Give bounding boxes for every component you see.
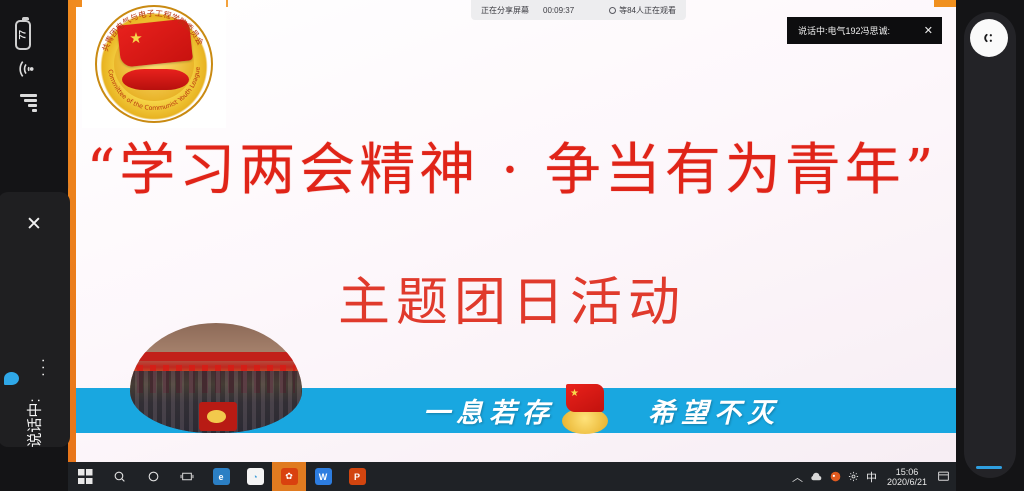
chat-input-field[interactable]: 输入文字(限40字)... xyxy=(964,12,1016,478)
task-view-icon[interactable] xyxy=(170,462,204,491)
shared-screen[interactable]: ★ 共青团电气与电子工程学院委员会 Committee of the xyxy=(68,0,956,491)
signal-bars-icon xyxy=(13,88,37,112)
windows-taskbar[interactable]: e ◔ ✿ W P ︿ xyxy=(68,462,956,491)
speaking-bubble-icon xyxy=(4,372,19,385)
svg-text:共青团电气与电子工程学院委员会: 共青团电气与电子工程学院委员会 xyxy=(101,9,206,53)
speaking-indicator-panel[interactable]: ✕ ··· 说话中: xyxy=(0,192,70,447)
presentation-slide: ★ 共青团电气与电子工程学院委员会 Committee of the xyxy=(68,0,956,462)
battery-icon: 77 xyxy=(15,20,31,50)
taskbar-app-edge[interactable]: e xyxy=(204,462,238,491)
league-emblem-small-icon: ★ xyxy=(558,384,612,434)
wifi-icon xyxy=(14,56,36,82)
phone-clock-text: 15:06 xyxy=(0,432,2,473)
search-icon[interactable] xyxy=(102,462,136,491)
league-logo-container: ★ 共青团电气与电子工程学院委员会 Committee of the xyxy=(82,0,226,128)
cortana-circle-icon[interactable] xyxy=(136,462,170,491)
app-root: 77 ✕ ··· 说话中: 15:06 xyxy=(0,0,1024,491)
taskbar-app-meeting[interactable]: ✿ xyxy=(272,462,306,491)
emoji-smiley-icon[interactable] xyxy=(970,19,1008,57)
calligraphy-right: 希望不灭 xyxy=(648,391,780,430)
screen-share-toast: 正在分享屏幕 00:09:37 等84人正在观看 xyxy=(471,0,686,20)
taskbar-app-wps[interactable]: W xyxy=(306,462,340,491)
speaker-banner[interactable]: 说话中:电气192冯思诚: ✕ xyxy=(787,17,942,44)
status-icons: 77 xyxy=(6,6,46,121)
viewer-count-label: 等84人正在观看 xyxy=(619,5,676,16)
gear-icon[interactable] xyxy=(848,471,859,482)
share-duration: 00:09:37 xyxy=(543,6,574,15)
viewer-count-group[interactable]: 等84人正在观看 xyxy=(609,5,676,16)
speaking-label: 说话中: xyxy=(24,298,45,448)
close-icon[interactable]: ✕ xyxy=(23,214,45,236)
slide-title-sub: 主题团日活动 xyxy=(68,277,956,329)
calligraphy-left: 一息若存 xyxy=(423,391,555,430)
taskbar-time: 15:06 xyxy=(887,467,927,477)
svg-text:Committee of the Communist You: Committee of the Communist Youth League xyxy=(106,66,202,112)
assembly-hall-photo xyxy=(130,323,302,433)
viewer-circle-icon xyxy=(609,7,616,14)
chevron-up-icon[interactable]: ︿ xyxy=(792,469,803,485)
cloud-icon[interactable] xyxy=(810,472,823,482)
slide-title-main: “学习两会精神 · 争当有为青年” xyxy=(68,143,956,199)
taskbar-app-file-explorer[interactable]: ◔ xyxy=(238,462,272,491)
sharing-status-label: 正在分享屏幕 xyxy=(481,5,529,16)
windows-start-icon[interactable] xyxy=(68,462,102,491)
close-icon[interactable]: ✕ xyxy=(924,24,933,37)
chat-input-rail: 输入文字(限40字)... xyxy=(956,0,1024,491)
communist-youth-league-emblem-icon: ★ 共青团电气与电子工程学院委员会 Committee of the xyxy=(92,2,216,126)
notification-icon[interactable] xyxy=(937,470,950,483)
battery-level: 77 xyxy=(18,30,28,39)
chat-input-placeholder: 输入文字(限40字)... xyxy=(970,312,990,491)
taskbar-date: 2020/6/21 xyxy=(887,477,927,487)
phone-clock: 15:06 xyxy=(4,431,64,481)
taskbar-clock[interactable]: 15:06 2020/6/21 xyxy=(884,467,930,487)
app-tray-icon[interactable] xyxy=(830,471,841,482)
taskbar-left-group: e ◔ ✿ W P xyxy=(68,462,374,491)
ime-indicator[interactable]: 中 xyxy=(866,469,877,485)
speaker-banner-text: 说话中:电气192冯思诚: xyxy=(798,24,890,37)
system-tray[interactable]: ︿ 中 15:06 2020/6/21 xyxy=(792,462,956,491)
slide-border-top-right xyxy=(934,0,956,7)
taskbar-app-powerpoint[interactable]: P xyxy=(340,462,374,491)
phone-status-strip: 77 ✕ ··· 说话中: 15:06 xyxy=(0,0,68,491)
